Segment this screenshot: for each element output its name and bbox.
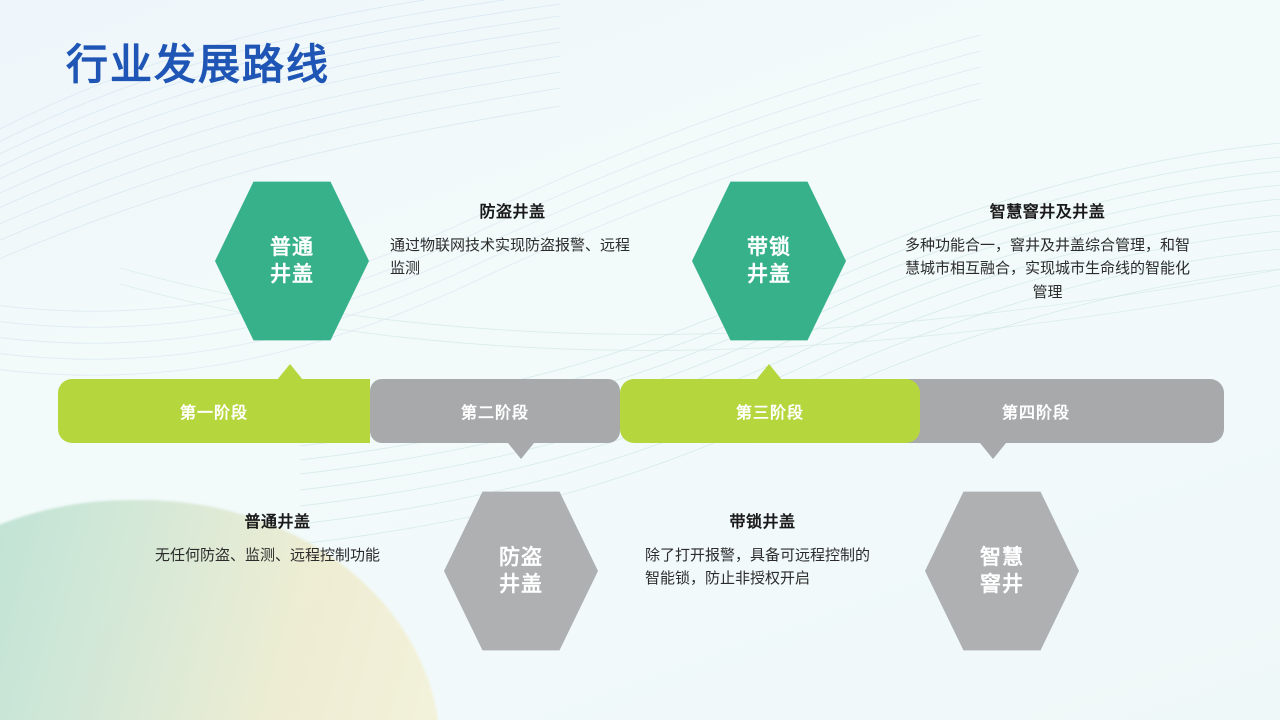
timeline-segment-label: 第四阶段: [1002, 399, 1070, 423]
hexagon-stage-1[interactable]: 普通 井盖: [215, 180, 369, 342]
hexagon-label-line1: 带锁: [747, 234, 791, 261]
pointer-up-stage-1: [277, 364, 303, 380]
description-body: 通过物联网技术实现防盗报警、远程监测: [390, 234, 635, 281]
pointer-up-stage-3: [756, 364, 782, 380]
pointer-down-stage-2: [508, 443, 534, 459]
timeline-segment-label: 第二阶段: [461, 399, 529, 423]
hexagon-label-line1: 防盗: [499, 544, 543, 571]
hexagon-label-line2: 井盖: [270, 261, 314, 288]
timeline-segment-2[interactable]: 第二阶段: [370, 379, 620, 443]
timeline-segment-1[interactable]: 第一阶段: [58, 379, 370, 443]
background-wave-lines: [0, 0, 1280, 720]
hexagon-stage-2[interactable]: 防盗 井盖: [444, 490, 598, 652]
timeline-bar: 第四阶段 第二阶段 第一阶段 第三阶段: [58, 379, 1224, 443]
timeline-segment-3[interactable]: 第三阶段: [620, 379, 920, 443]
description-block-ordinary-cover: 普通井盖 无任何防盗、监测、远程控制功能: [155, 508, 400, 567]
hexagon-label-line2: 井盖: [747, 261, 791, 288]
description-body: 无任何防盗、监测、远程控制功能: [155, 544, 400, 567]
description-heading: 带锁井盖: [645, 508, 880, 532]
description-block-anti-theft-cover: 防盗井盖 通过物联网技术实现防盗报警、远程监测: [390, 198, 635, 281]
description-body: 除了打开报警，具备可远程控制的智能锁，防止非授权开启: [645, 544, 880, 591]
description-heading: 防盗井盖: [390, 198, 635, 222]
hexagon-stage-3[interactable]: 带锁 井盖: [692, 180, 846, 342]
hexagon-label-line1: 智慧: [980, 544, 1024, 571]
background-base-gradient: [0, 0, 1280, 720]
hexagon-label-line1: 普通: [270, 234, 314, 261]
slide-background: [0, 0, 1280, 720]
description-heading: 普通井盖: [155, 508, 400, 532]
hexagon-stage-4[interactable]: 智慧 窨井: [925, 490, 1079, 652]
description-block-smart-manhole: 智慧窨井及井盖 多种功能合一，窨井及井盖综合管理，和智慧城市相互融合，实现城市生…: [905, 198, 1190, 304]
description-block-locked-cover: 带锁井盖 除了打开报警，具备可远程控制的智能锁，防止非授权开启: [645, 508, 880, 591]
pointer-down-stage-4: [980, 443, 1006, 459]
description-heading: 智慧窨井及井盖: [905, 198, 1190, 222]
description-body: 多种功能合一，窨井及井盖综合管理，和智慧城市相互融合，实现城市生命线的智能化管理: [905, 234, 1190, 304]
hexagon-label-line2: 窨井: [980, 571, 1024, 598]
timeline-segment-label: 第一阶段: [180, 399, 248, 423]
hexagon-label-line2: 井盖: [499, 571, 543, 598]
page-title: 行业发展路线: [66, 40, 330, 90]
timeline-segment-label: 第三阶段: [736, 399, 804, 423]
